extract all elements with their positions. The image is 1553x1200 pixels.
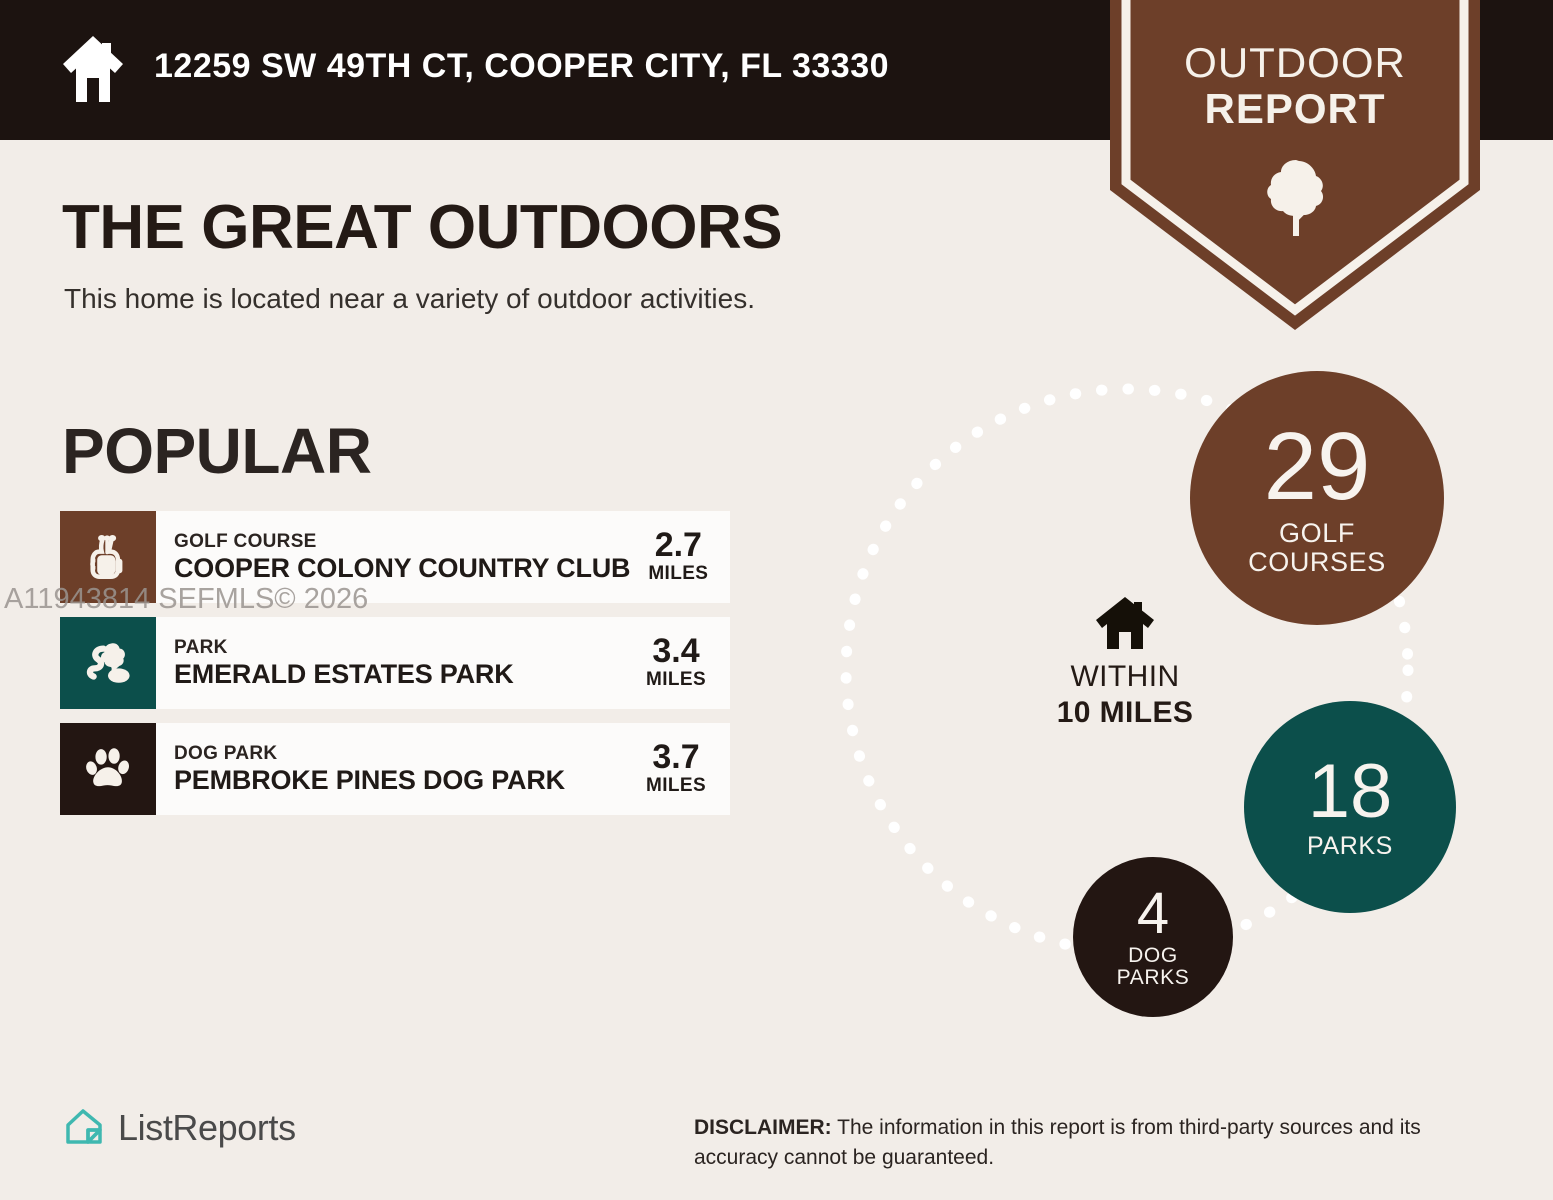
page-subtitle: This home is located near a variety of o…: [64, 283, 755, 315]
listreports-wordmark: ListReports: [118, 1107, 296, 1149]
disclaimer-label: DISCLAIMER:: [694, 1116, 832, 1139]
page-title: THE GREAT OUTDOORS: [62, 192, 782, 263]
popular-heading: POPULAR: [62, 414, 371, 488]
center-label: WITHIN 10 MILES: [1015, 595, 1235, 731]
list-item[interactable]: PARK EMERALD ESTATES PARK 3.4 MILES: [60, 617, 730, 709]
list-item-distance: 3.4 MILES: [628, 617, 730, 709]
distance-unit: MILES: [648, 562, 708, 586]
badge-title: OUTDOOR REPORT: [1110, 40, 1480, 132]
within-10-miles-infographic: WITHIN 10 MILES 29 GOLF COURSES 18 PARKS…: [820, 355, 1520, 1035]
list-item-text: GOLF COURSE COOPER COLONY COUNTRY CLUB: [156, 511, 630, 603]
badge-title-line1: OUTDOOR: [1110, 40, 1480, 86]
listreports-logo[interactable]: ListReports: [62, 1106, 296, 1150]
stat-parks[interactable]: 18 PARKS: [1244, 701, 1456, 913]
badge-title-line2: REPORT: [1110, 86, 1480, 132]
stat-value: 18: [1308, 754, 1393, 830]
stat-label-line1: GOLF: [1248, 519, 1386, 548]
listreports-house-icon: [62, 1106, 106, 1150]
stat-label: PARKS: [1307, 833, 1393, 860]
list-item[interactable]: DOG PARK PEMBROKE PINES DOG PARK 3.7 MIL…: [60, 723, 730, 815]
list-item-name: PEMBROKE PINES DOG PARK: [174, 765, 628, 796]
center-line2: 10 MILES: [1015, 695, 1235, 731]
park-tree-icon: [60, 617, 156, 709]
stat-dog-parks[interactable]: 4 DOG PARKS: [1073, 857, 1233, 1017]
list-item-category: GOLF COURSE: [174, 531, 630, 553]
list-item-distance: 3.7 MILES: [628, 723, 730, 815]
stat-value: 4: [1137, 885, 1169, 943]
stat-label: GOLF COURSES: [1248, 519, 1386, 576]
list-item-name: COOPER COLONY COUNTRY CLUB: [174, 553, 630, 584]
list-item-text: DOG PARK PEMBROKE PINES DOG PARK: [156, 723, 628, 815]
popular-list: GOLF COURSE COOPER COLONY COUNTRY CLUB 2…: [60, 511, 730, 829]
distance-value: 2.7: [655, 528, 702, 562]
list-item-distance: 2.7 MILES: [630, 511, 732, 603]
distance-unit: MILES: [646, 668, 706, 692]
outdoor-report-badge: OUTDOOR REPORT: [1110, 0, 1480, 330]
stat-label-line1: DOG: [1117, 945, 1190, 967]
property-address: 12259 SW 49TH CT, COOPER CITY, FL 33330: [154, 47, 889, 86]
stat-label-line1: PARKS: [1307, 833, 1393, 860]
golf-bag-icon: [60, 511, 156, 603]
list-item-name: EMERALD ESTATES PARK: [174, 659, 628, 690]
distance-value: 3.4: [652, 634, 699, 668]
disclaimer: DISCLAIMER: The information in this repo…: [694, 1113, 1494, 1173]
stat-value: 29: [1264, 419, 1371, 515]
list-item-category: DOG PARK: [174, 743, 628, 765]
stat-golf-courses[interactable]: 29 GOLF COURSES: [1190, 371, 1444, 625]
stat-label-line2: PARKS: [1117, 967, 1190, 989]
list-item-category: PARK: [174, 637, 628, 659]
stat-label: DOG PARKS: [1117, 945, 1190, 990]
list-item-text: PARK EMERALD ESTATES PARK: [156, 617, 628, 709]
paw-print-icon: [60, 723, 156, 815]
home-icon: [1094, 595, 1156, 651]
stat-label-line2: COURSES: [1248, 548, 1386, 577]
list-item[interactable]: GOLF COURSE COOPER COLONY COUNTRY CLUB 2…: [60, 511, 730, 603]
center-line1: WITHIN: [1015, 659, 1235, 695]
distance-value: 3.7: [652, 740, 699, 774]
outdoor-report-page: 12259 SW 49TH CT, COOPER CITY, FL 33330 …: [0, 0, 1553, 1200]
tree-icon: [1263, 158, 1329, 238]
distance-unit: MILES: [646, 774, 706, 798]
home-icon: [60, 34, 126, 104]
